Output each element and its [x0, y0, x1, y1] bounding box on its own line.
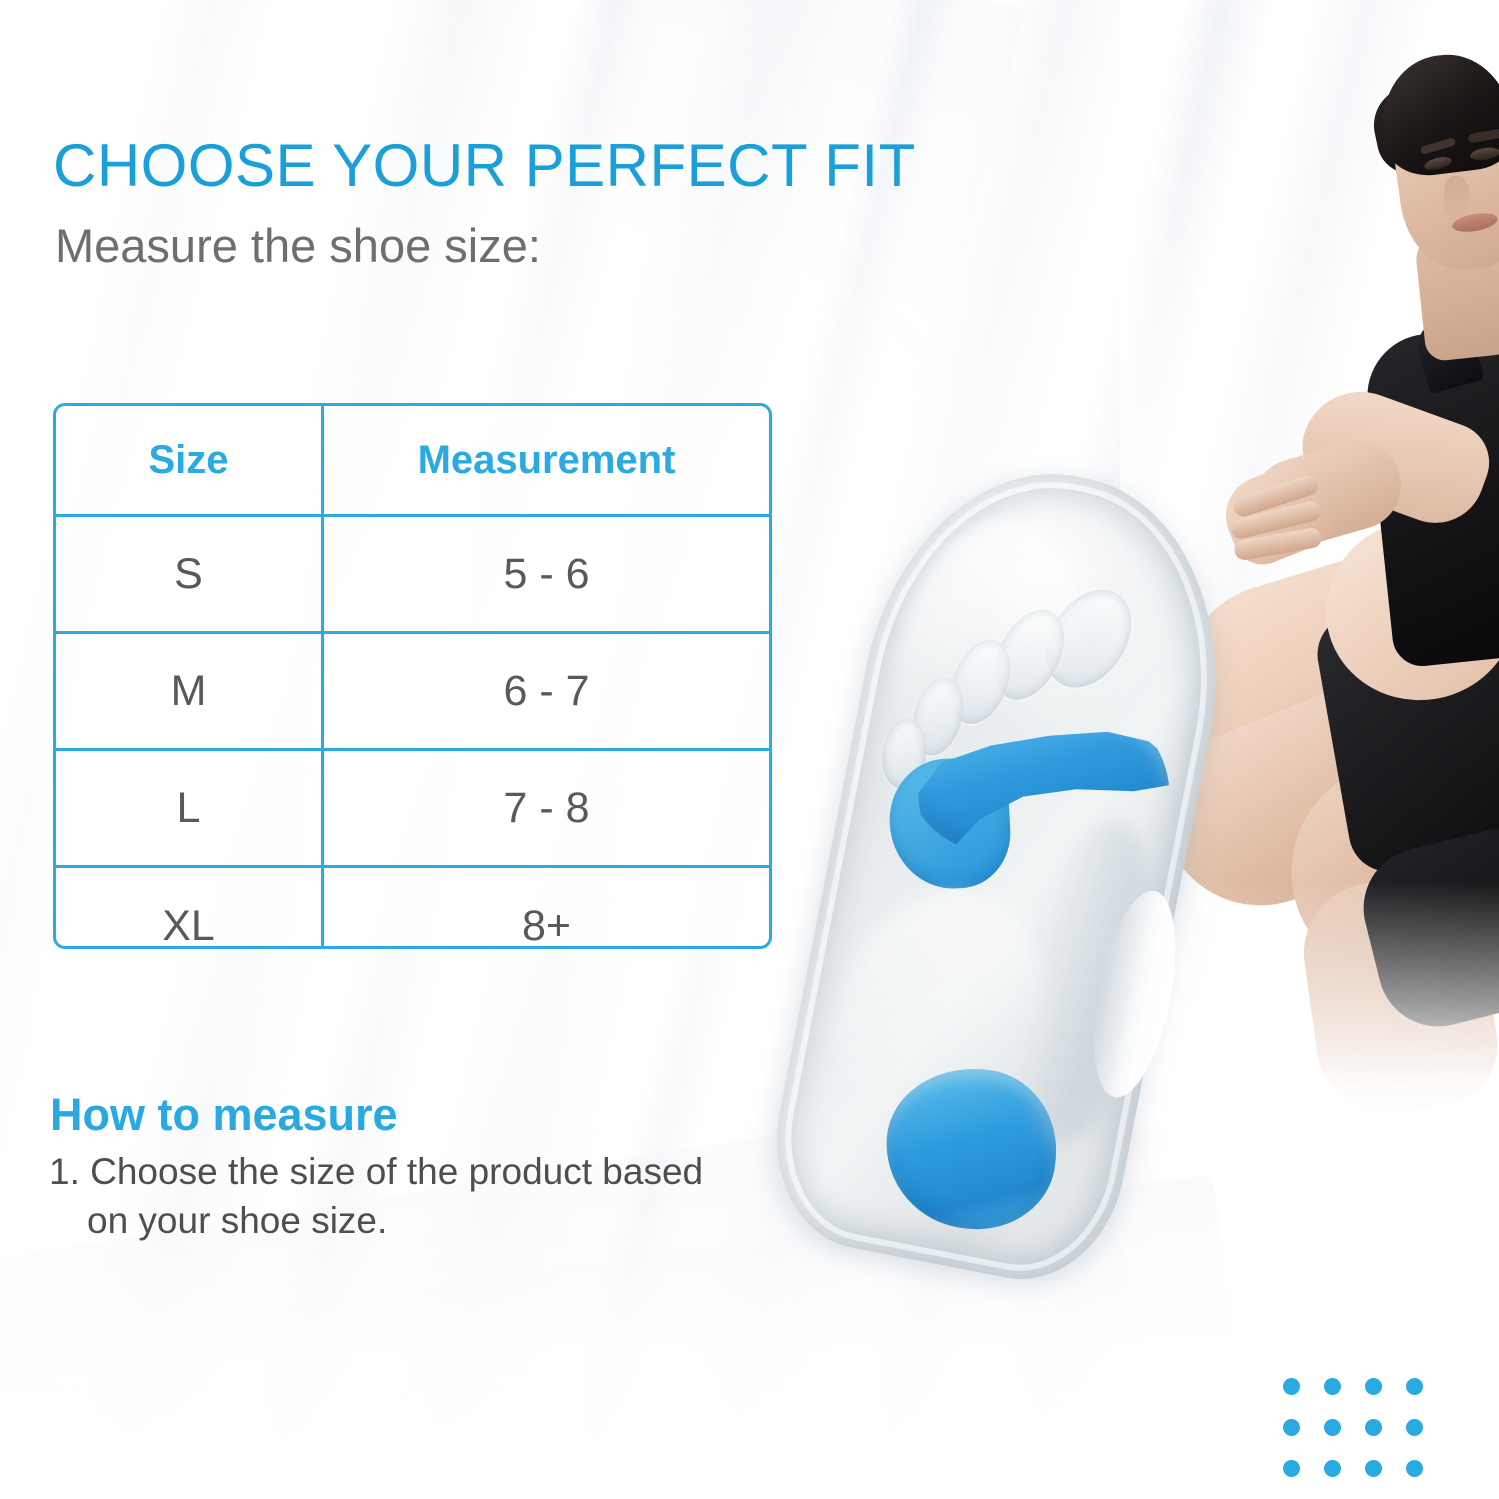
- how-to-measure-step: 1. Choose the size of the product based …: [49, 1148, 849, 1246]
- grid-dot: [1324, 1419, 1341, 1436]
- size-chart-table: Size Measurement S 5 - 6 M 6 - 7 L 7 - 8…: [53, 403, 772, 949]
- grid-dot: [1283, 1460, 1300, 1477]
- grid-dot: [1324, 1460, 1341, 1477]
- cell-size-xl: XL: [56, 868, 324, 949]
- how-to-measure-title: How to measure: [50, 1089, 398, 1141]
- grid-dot: [1406, 1419, 1423, 1436]
- grid-dot: [1283, 1419, 1300, 1436]
- dot-grid-decoration: [1283, 1378, 1447, 1499]
- table-row: S 5 - 6: [56, 517, 769, 634]
- insole-product-image: [830, 470, 1300, 1300]
- page-subtitle: Measure the shoe size:: [55, 222, 541, 269]
- column-header-size: Size: [56, 406, 324, 514]
- grid-dot: [1365, 1419, 1382, 1436]
- table-row: L 7 - 8: [56, 751, 769, 868]
- cell-measurement-m: 6 - 7: [324, 634, 769, 748]
- cell-size-m: M: [56, 634, 324, 748]
- how-to-measure-step-line-2: on your shoe size.: [49, 1197, 849, 1246]
- grid-dot: [1283, 1378, 1300, 1395]
- cell-measurement-s: 5 - 6: [324, 517, 769, 631]
- cell-measurement-l: 7 - 8: [324, 751, 769, 865]
- grid-dot: [1406, 1460, 1423, 1477]
- page-title: CHOOSE YOUR PERFECT FIT: [53, 136, 916, 196]
- cell-measurement-xl: 8+: [324, 868, 769, 949]
- grid-dot: [1365, 1378, 1382, 1395]
- cell-size-s: S: [56, 517, 324, 631]
- grid-dot: [1365, 1460, 1382, 1477]
- table-row: M 6 - 7: [56, 634, 769, 751]
- how-to-measure-step-line-1: 1. Choose the size of the product based: [49, 1151, 703, 1192]
- cell-size-l: L: [56, 751, 324, 865]
- table-header-row: Size Measurement: [56, 406, 769, 517]
- grid-dot: [1406, 1378, 1423, 1395]
- column-header-measurement: Measurement: [324, 406, 769, 514]
- grid-dot: [1324, 1378, 1341, 1395]
- table-row: XL 8+: [56, 868, 769, 949]
